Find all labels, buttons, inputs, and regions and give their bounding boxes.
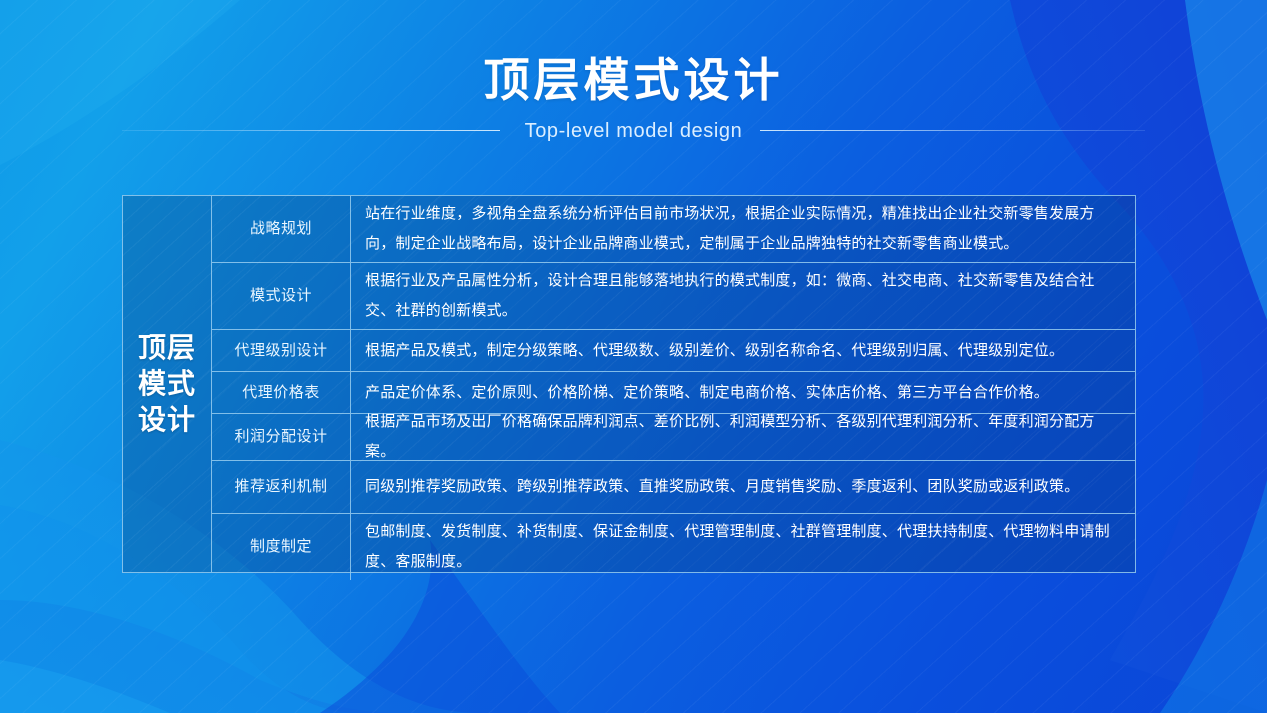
row-description: 根据行业及产品属性分析，设计合理且能够落地执行的模式制度，如：微商、社交电商、社… — [351, 263, 1135, 329]
slide: 顶层模式设计 Top-level model design 顶层 模式 设计 战… — [0, 0, 1267, 713]
category-line-1: 顶层 — [138, 332, 196, 363]
table-row: 模式设计 根据行业及产品属性分析，设计合理且能够落地执行的模式制度，如：微商、社… — [212, 263, 1135, 330]
table-rows: 战略规划 站在行业维度，多视角全盘系统分析评估目前市场状况，根据企业实际情况，精… — [212, 196, 1135, 572]
row-label: 推荐返利机制 — [212, 461, 351, 513]
table-category-cell: 顶层 模式 设计 — [123, 196, 212, 572]
table-row: 推荐返利机制 同级别推荐奖励政策、跨级别推荐政策、直推奖励政策、月度销售奖励、季… — [212, 461, 1135, 514]
row-description: 站在行业维度，多视角全盘系统分析评估目前市场状况，根据企业实际情况，精准找出企业… — [351, 196, 1135, 262]
row-description: 根据产品市场及出厂价格确保品牌利润点、差价比例、利润模型分析、各级别代理利润分析… — [351, 414, 1135, 460]
row-description: 包邮制度、发货制度、补货制度、保证金制度、代理管理制度、社群管理制度、代理扶持制… — [351, 514, 1135, 580]
row-label: 代理价格表 — [212, 372, 351, 413]
row-label: 利润分配设计 — [212, 414, 351, 460]
category-line-2: 模式 — [138, 368, 196, 399]
table-row: 利润分配设计 根据产品市场及出厂价格确保品牌利润点、差价比例、利润模型分析、各级… — [212, 414, 1135, 461]
table-row: 战略规划 站在行业维度，多视角全盘系统分析评估目前市场状况，根据企业实际情况，精… — [212, 196, 1135, 263]
table-row: 代理级别设计 根据产品及模式，制定分级策略、代理级数、级别差价、级别名称命名、代… — [212, 330, 1135, 372]
page-subtitle: Top-level model design — [0, 118, 1267, 144]
row-label: 代理级别设计 — [212, 330, 351, 371]
row-description: 根据产品及模式，制定分级策略、代理级数、级别差价、级别名称命名、代理级别归属、代… — [351, 330, 1135, 371]
row-description: 同级别推荐奖励政策、跨级别推荐政策、直推奖励政策、月度销售奖励、季度返利、团队奖… — [351, 461, 1135, 513]
table-row: 制度制定 包邮制度、发货制度、补货制度、保证金制度、代理管理制度、社群管理制度、… — [212, 514, 1135, 580]
category-line-3: 设计 — [138, 404, 196, 435]
header: 顶层模式设计 Top-level model design — [0, 0, 1267, 175]
model-table: 顶层 模式 设计 战略规划 站在行业维度，多视角全盘系统分析评估目前市场状况，根… — [122, 195, 1136, 573]
row-label: 模式设计 — [212, 263, 351, 329]
row-label: 战略规划 — [212, 196, 351, 262]
table-category-label: 顶层 模式 设计 — [138, 330, 196, 438]
row-label: 制度制定 — [212, 514, 351, 580]
page-title: 顶层模式设计 — [0, 52, 1267, 108]
